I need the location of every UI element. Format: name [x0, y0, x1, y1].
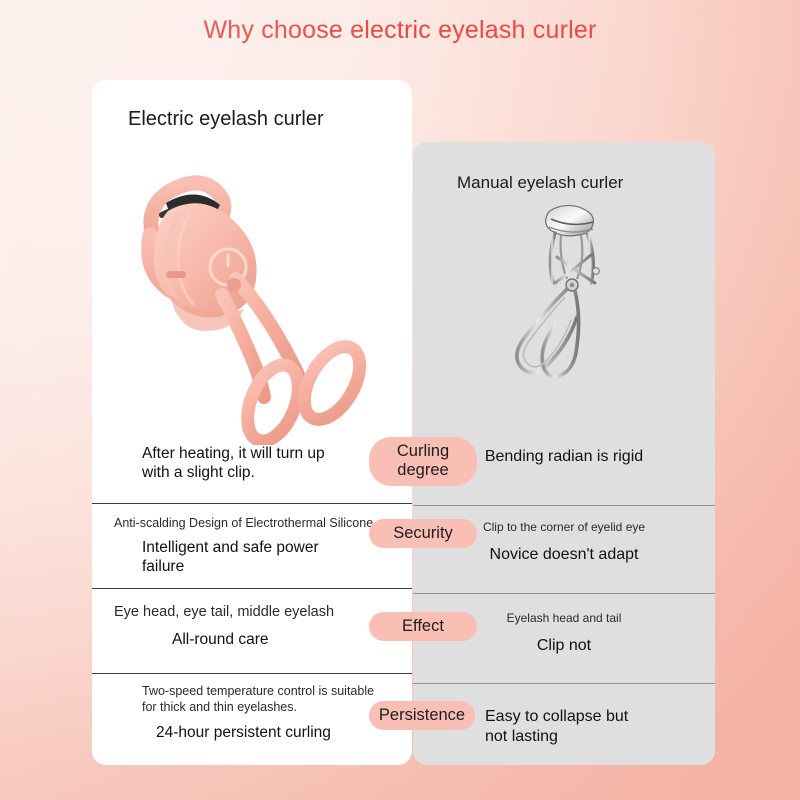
electric-curler-card-title: Electric eyelash curler: [128, 108, 324, 131]
electric-curler-rows: After heating, it will turn up with a sl…: [92, 435, 412, 764]
row-sub-text: Anti-scalding Design of Electrothermal S…: [114, 504, 390, 532]
manual-eyelash-curler-image: [475, 197, 655, 412]
badge-security[interactable]: Security: [369, 519, 477, 548]
infographic-page: Why choose electric eyelash curler Manua…: [0, 0, 800, 800]
badge-effect[interactable]: Effect: [369, 612, 477, 641]
row-sub-text: Eye head, eye tail, middle eyelash: [114, 589, 390, 621]
table-row: Two-speed temperature control is suitabl…: [92, 674, 412, 764]
page-title: Why choose electric eyelash curler: [0, 16, 800, 45]
table-row: After heating, it will turn up with a sl…: [92, 435, 412, 503]
badge-persistence[interactable]: Persistence: [369, 701, 475, 730]
row-sub-text: Two-speed temperature control is suitabl…: [114, 674, 390, 715]
table-row: Anti-scalding Design of Electrothermal S…: [92, 504, 412, 588]
electric-curler-card: Electric eyelash curler: [92, 80, 412, 765]
row-main-text: 24-hour persistent curling: [114, 715, 390, 743]
row-main-text: All-round care: [114, 621, 390, 650]
row-main-text: After heating, it will turn up with a sl…: [114, 435, 390, 483]
manual-curler-card-title: Manual eyelash curler: [457, 173, 623, 193]
badge-curling-degree[interactable]: Curling degree: [369, 437, 477, 486]
table-row: Eye head, eye tail, middle eyelash All-r…: [92, 589, 412, 673]
electric-eyelash-curler-image: [110, 155, 400, 445]
row-main-text: Intelligent and safe power failure: [114, 532, 390, 577]
